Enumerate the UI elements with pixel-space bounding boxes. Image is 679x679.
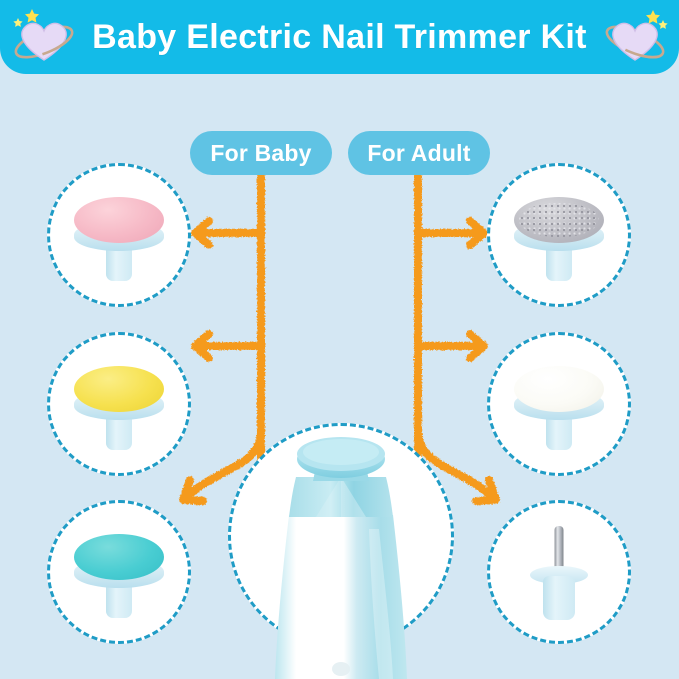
disc-surface bbox=[514, 366, 604, 412]
device-button bbox=[332, 662, 350, 676]
disc-surface bbox=[74, 197, 164, 243]
infographic-canvas: Baby Electric Nail Trimmer Kit bbox=[0, 0, 679, 679]
disc-surface bbox=[74, 366, 164, 412]
attachment-metal-cuticle-drill-bit[interactable] bbox=[487, 500, 631, 644]
attachment-inner bbox=[490, 335, 628, 473]
attachment-inner bbox=[50, 166, 188, 304]
disc-stem bbox=[543, 576, 575, 620]
teal-grinding-disc-icon bbox=[67, 520, 171, 624]
attachment-inner bbox=[490, 503, 628, 641]
page-title: Baby Electric Nail Trimmer Kit bbox=[92, 18, 587, 57]
attachment-teal-grinding-disc[interactable] bbox=[47, 500, 191, 644]
attachment-grey-grit-sanding-disc[interactable] bbox=[487, 163, 631, 307]
heart-orbit-icon bbox=[8, 6, 78, 68]
label-for-baby[interactable]: For Baby bbox=[190, 131, 332, 175]
attachment-inner bbox=[50, 503, 188, 641]
attachment-white-buffing-disc[interactable] bbox=[487, 332, 631, 476]
attachment-pink-polish-disc[interactable] bbox=[47, 163, 191, 307]
metal-cuticle-drill-bit-icon bbox=[507, 520, 611, 624]
label-for-baby-text: For Baby bbox=[210, 140, 311, 167]
grey-grit-sanding-disc-icon bbox=[507, 183, 611, 287]
attachment-inner bbox=[490, 166, 628, 304]
pink-polish-disc-icon bbox=[67, 183, 171, 287]
label-for-adult-text: For Adult bbox=[367, 140, 470, 167]
disc-surface bbox=[514, 197, 604, 243]
disc-surface bbox=[74, 534, 164, 580]
electric-nail-trimmer-device[interactable] bbox=[265, 437, 417, 679]
header-banner: Baby Electric Nail Trimmer Kit bbox=[0, 0, 679, 74]
yellow-polish-disc-icon bbox=[67, 352, 171, 456]
attachment-inner bbox=[50, 335, 188, 473]
heart-orbit-icon bbox=[601, 6, 671, 68]
label-for-adult[interactable]: For Adult bbox=[348, 131, 490, 175]
white-buffing-disc-icon bbox=[507, 352, 611, 456]
attachment-yellow-polish-disc[interactable] bbox=[47, 332, 191, 476]
